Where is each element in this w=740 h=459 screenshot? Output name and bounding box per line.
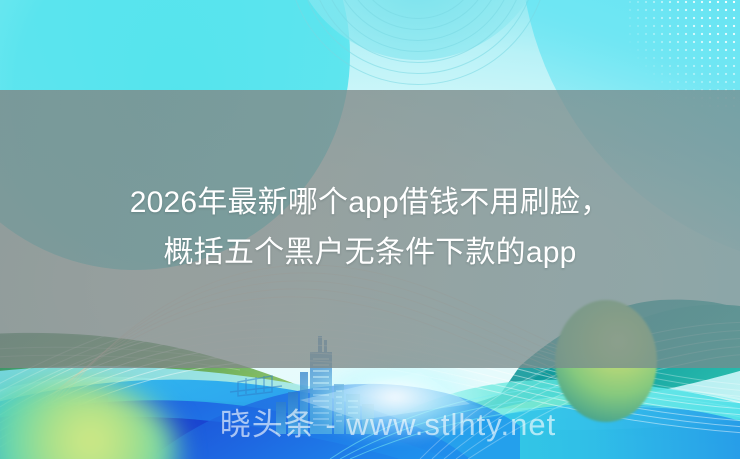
page-title: 2026年最新哪个app借钱不用刷脸， 概括五个黑户无条件下款的app	[0, 178, 740, 278]
banner-image: 2026年最新哪个app借钱不用刷脸， 概括五个黑户无条件下款的app 晓头条 …	[0, 0, 740, 459]
watermark-text: 晓头条 - www.stlhty.net	[0, 404, 740, 446]
